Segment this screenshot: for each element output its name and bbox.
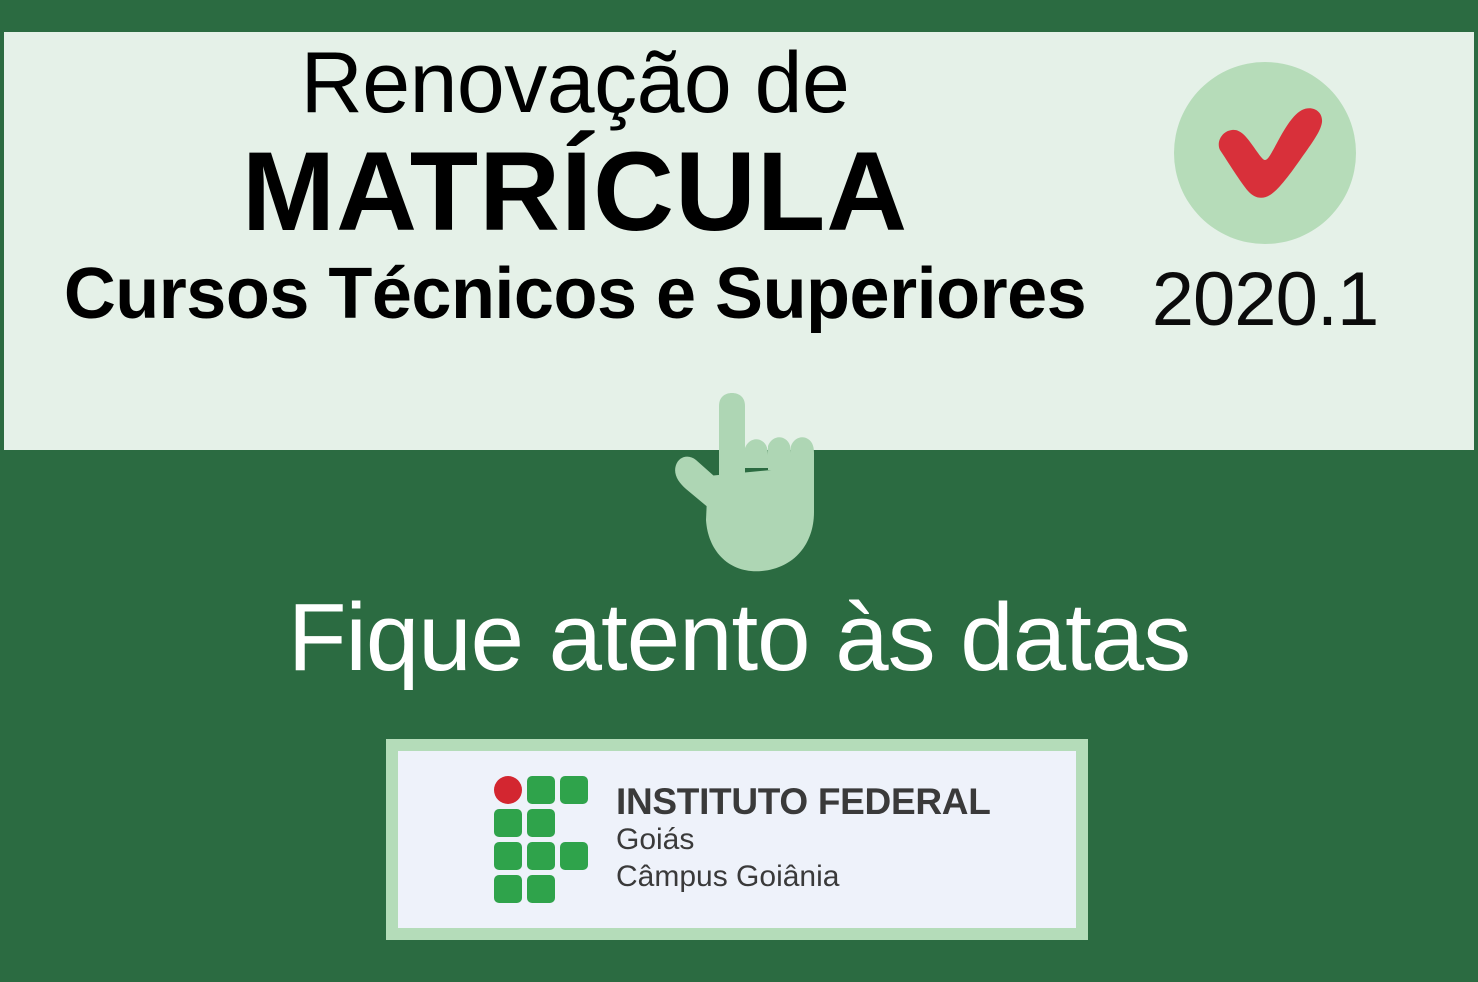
check-badge-circle: [1174, 62, 1356, 244]
logo-cell-r4c2: [527, 875, 555, 903]
logo-cell-r3c1: [494, 842, 522, 870]
poster-canvas: Renovação de MATRÍCULA Cursos Técnicos e…: [0, 0, 1478, 982]
logo-cell-r2c1: [494, 809, 522, 837]
logo-cell-r3c3: [560, 842, 588, 870]
logo-state-name: Goiás: [616, 822, 991, 859]
year-label: 2020.1: [1150, 262, 1380, 338]
check-mark-icon: [1208, 98, 1326, 208]
title-line-cursos: Cursos Técnicos e Superiores: [30, 257, 1120, 333]
logo-cell-r2c2: [527, 809, 555, 837]
logo-institution-name: INSTITUTO FEDERAL: [616, 783, 991, 822]
logo-cell-r4c3: [560, 875, 588, 903]
logo-cell-r4c1: [494, 875, 522, 903]
logo-cell-r1c1: [494, 776, 522, 804]
ifg-logo-text: INSTITUTO FEDERAL Goiás Câmpus Goiânia: [616, 783, 991, 895]
logo-cell-r3c2: [527, 842, 555, 870]
headline-text: Fique atento às datas: [0, 588, 1478, 689]
logo-cell-r1c3: [560, 776, 588, 804]
logo-cell-r1c2: [527, 776, 555, 804]
title-line-matricula: MATRÍCULA: [30, 132, 1120, 253]
title-block: Renovação de MATRÍCULA Cursos Técnicos e…: [30, 40, 1120, 333]
pointing-hand-up-icon: [672, 392, 832, 577]
ifg-logo-inner: INSTITUTO FEDERAL Goiás Câmpus Goiânia: [398, 751, 1076, 928]
ifg-grid-logo-icon: [494, 776, 586, 903]
logo-campus-name: Câmpus Goiânia: [616, 859, 991, 896]
badge-block: 2020.1: [1150, 62, 1380, 338]
ifg-logo-card: INSTITUTO FEDERAL Goiás Câmpus Goiânia: [386, 739, 1088, 940]
title-line-renovacao: Renovação de: [30, 40, 1120, 126]
logo-cell-r2c3: [560, 809, 588, 837]
